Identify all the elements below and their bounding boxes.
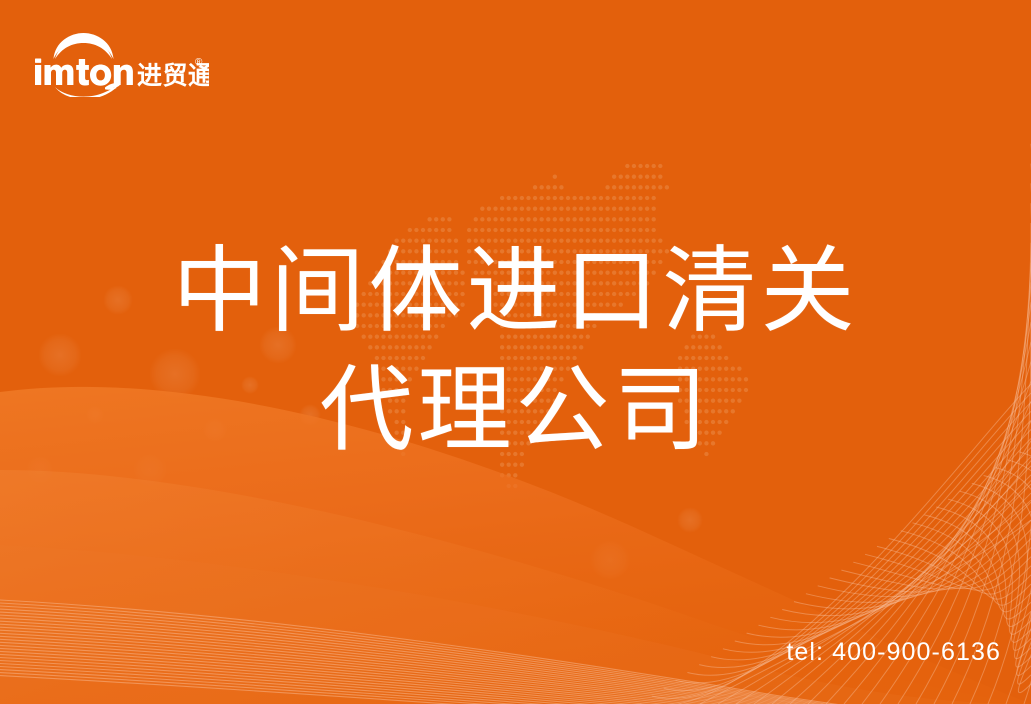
brand-logo[interactable]: 进贸通 ® (33, 29, 209, 97)
headline-line-1: 中间体进口清关 (0, 228, 1031, 353)
logo-chinese-name: 进贸通 ® (137, 57, 209, 90)
page-title: 中间体进口清关 代理公司 (0, 228, 1031, 472)
globe-icon (51, 31, 115, 59)
poster-canvas: 进贸通 ® 中间体进口清关 代理公司 tel: 400-900-6136 (0, 0, 1031, 704)
registered-trademark-icon: ® (195, 57, 203, 68)
headline-line-2: 代理公司 (0, 347, 1031, 472)
wordmark-imton (35, 59, 133, 86)
contact-phone[interactable]: tel: 400-900-6136 (786, 638, 1001, 667)
